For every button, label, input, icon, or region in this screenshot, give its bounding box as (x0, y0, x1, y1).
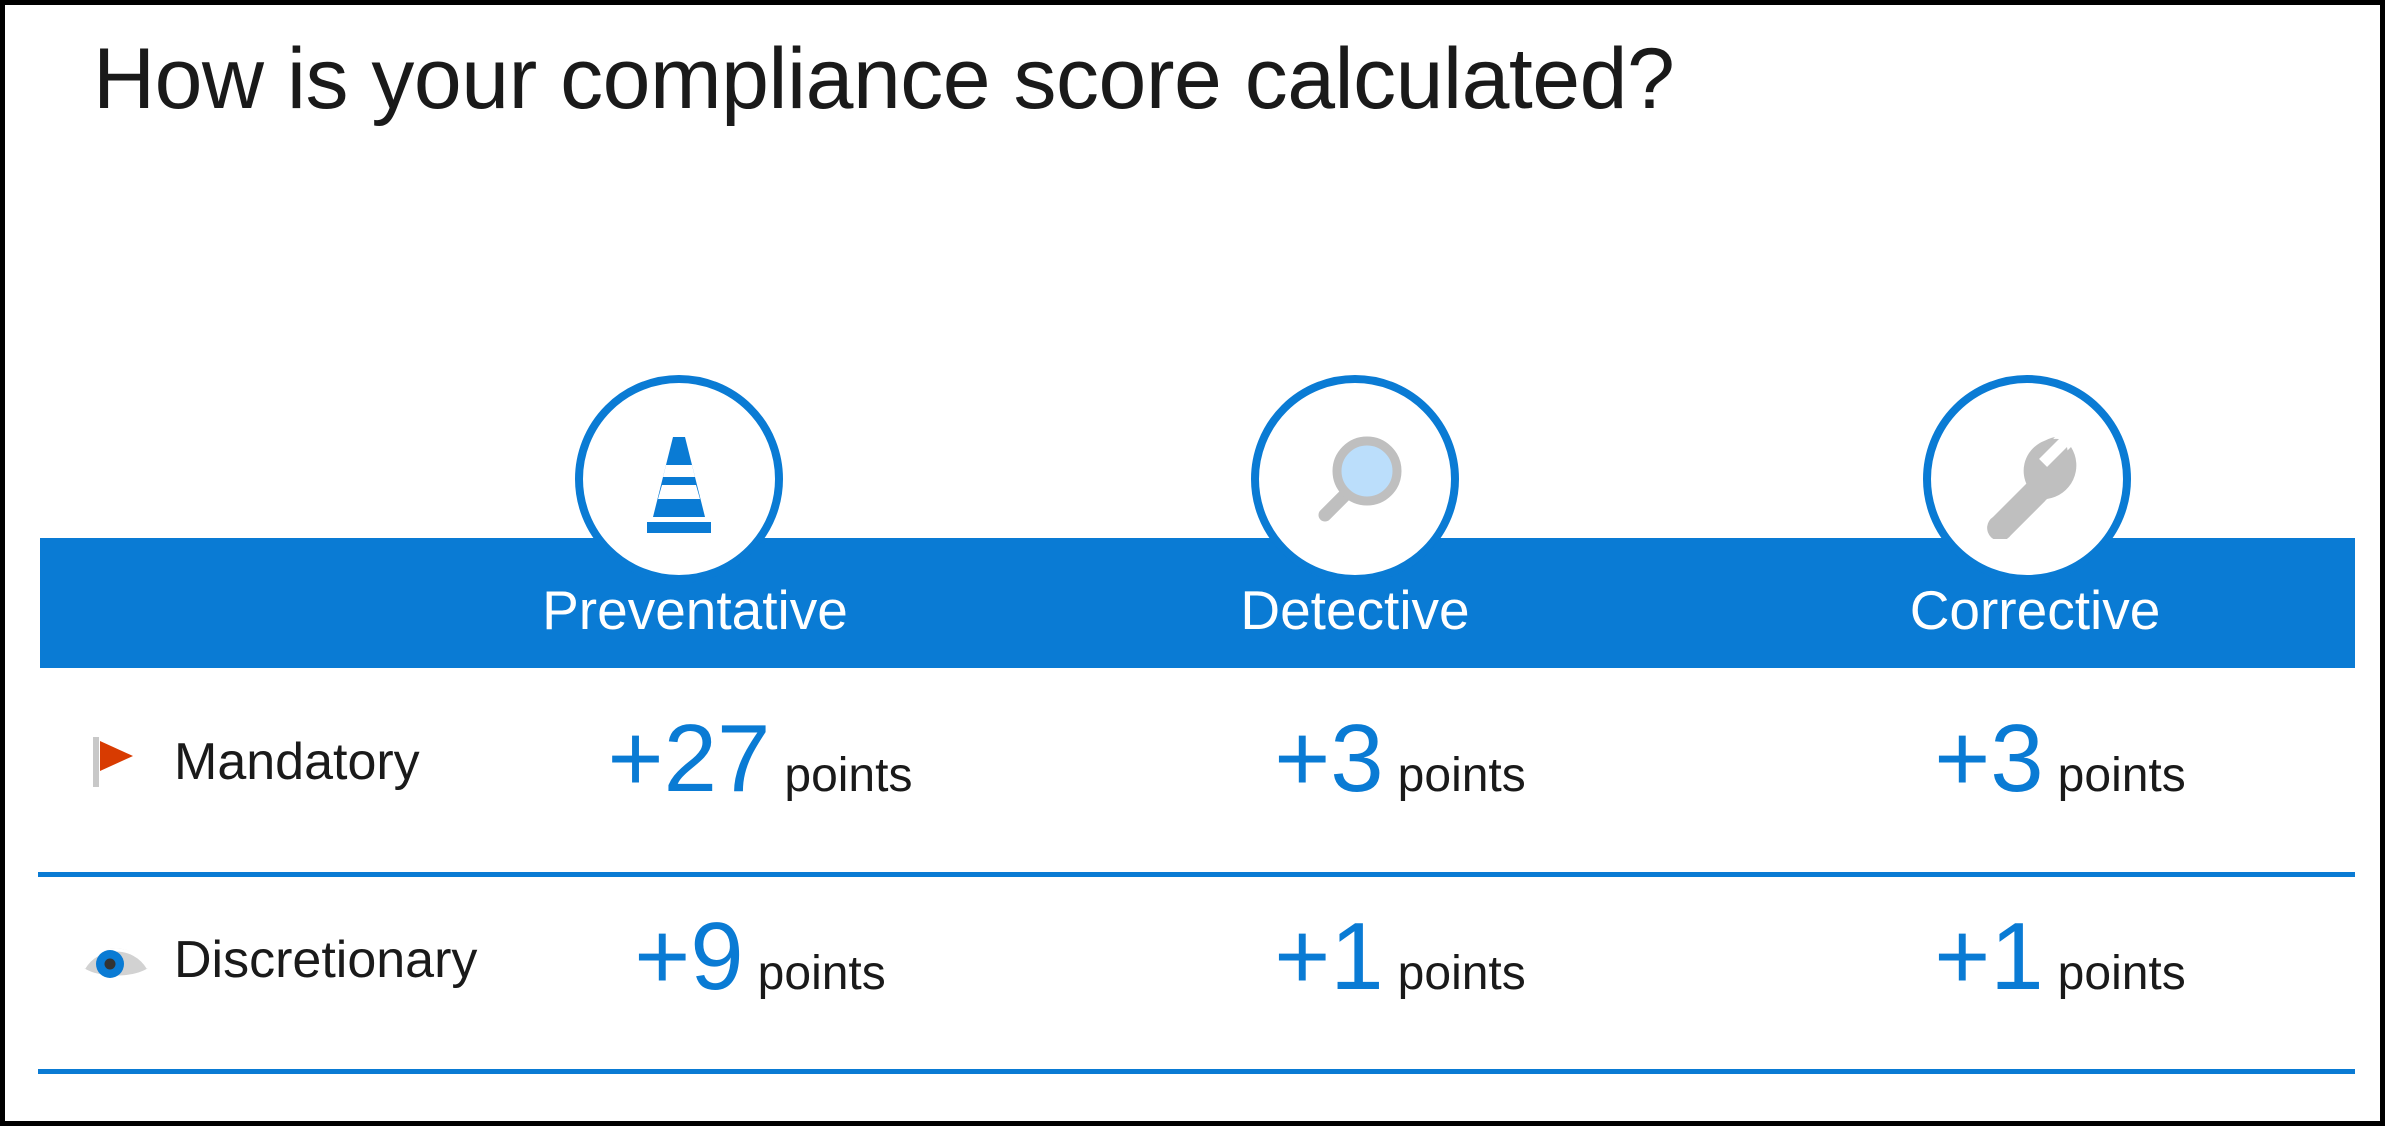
row-label-text: Discretionary (174, 930, 477, 990)
score-cell-mandatory-detective: +3 points (1180, 711, 1620, 831)
score-unit: points (784, 752, 912, 800)
eye-icon (80, 924, 152, 996)
score-value: +27 (608, 711, 771, 807)
score-cell-mandatory-corrective: +3 points (1840, 711, 2280, 831)
row-label-mandatory: Mandatory (80, 727, 420, 797)
band-label-corrective: Corrective (1795, 565, 2275, 655)
score-value: +1 (1274, 909, 1383, 1005)
band-label-detective: Detective (1115, 565, 1595, 655)
score-cell-discretionary-preventative: +9 points (540, 909, 980, 1029)
row-label-text: Mandatory (174, 732, 420, 792)
score-value: +3 (1274, 711, 1383, 807)
score-unit: points (1398, 950, 1526, 998)
table-row: Discretionary +9 points +1 points +1 poi… (40, 875, 2355, 1073)
score-cell-mandatory-preventative: +27 points (540, 711, 980, 831)
score-value: +9 (634, 909, 743, 1005)
row-divider (38, 1069, 2355, 1074)
flag-icon (80, 726, 152, 798)
band-label-preventative: Preventative (455, 565, 935, 655)
score-unit: points (758, 950, 886, 998)
score-cell-discretionary-detective: +1 points (1180, 909, 1620, 1029)
table-row: Mandatory +27 points +3 points +3 points (40, 677, 2355, 875)
row-label-discretionary: Discretionary (80, 925, 477, 995)
category-badge-detective (1251, 375, 1459, 583)
score-value: +3 (1934, 711, 2043, 807)
category-badge-preventative (575, 375, 783, 583)
page-title: How is your compliance score calculated? (93, 27, 1674, 131)
score-unit: points (2058, 950, 2186, 998)
score-cell-discretionary-corrective: +1 points (1840, 909, 2280, 1029)
score-value: +1 (1934, 909, 2043, 1005)
score-unit: points (1398, 752, 1526, 800)
category-badge-corrective (1923, 375, 2131, 583)
score-unit: points (2058, 752, 2186, 800)
compliance-score-slide: How is your compliance score calculated? (0, 0, 2385, 1126)
